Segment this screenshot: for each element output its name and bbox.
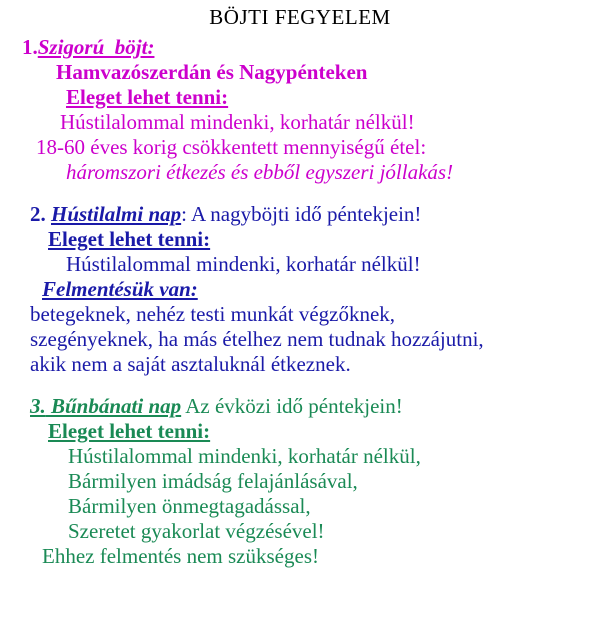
section-3-line-1: Eleget lehet tenni: <box>0 419 600 444</box>
section-1-line-1: Hamvazószerdán és Nagypénteken <box>0 60 600 85</box>
section-2-number: 2. <box>30 202 46 226</box>
section-strict-fast: 1.Szigorú böjt: Hamvazószerdán és Nagypé… <box>0 34 600 185</box>
section-2-line-4: betegeknek, nehéz testi munkát végzőknek… <box>0 302 600 327</box>
section-3-heading-tail: Az évközi idő péntekjein! <box>181 394 403 418</box>
section-1-heading: Szigorú böjt: <box>38 35 155 59</box>
section-3-line-4: Bármilyen önmegtagadással, <box>0 494 600 519</box>
document-page: BÖJTI FEGYELEM 1.Szigorú böjt: Hamvazósz… <box>0 4 600 628</box>
section-2-heading-row: 2. Hústilalmi nap: A nagyböjti idő pénte… <box>0 201 600 227</box>
section-3-line-2: Hústilalommal mindenki, korhatár nélkül, <box>0 444 600 469</box>
section-2-line-6: akik nem a saját asztaluknál étkeznek. <box>0 352 600 377</box>
section-2-line-2: Hústilalommal mindenki, korhatár nélkül! <box>0 252 600 277</box>
section-1-number: 1. <box>22 35 38 59</box>
spacer-1 <box>0 185 600 201</box>
section-1-line-5: háromszori étkezés és ebből egyszeri jól… <box>0 160 600 185</box>
page-title: BÖJTI FEGYELEM <box>0 4 600 30</box>
section-meat-abstinence-day: 2. Hústilalmi nap: A nagyböjti idő pénte… <box>0 201 600 377</box>
section-1-line-3: Hústilalommal mindenki, korhatár nélkül! <box>0 110 600 135</box>
section-3-number: 3. <box>30 394 46 418</box>
section-1-line-4: 18-60 éves korig csökkentett mennyiségű … <box>0 135 600 160</box>
section-2-line-1: Eleget lehet tenni: <box>0 227 600 252</box>
section-2-heading-tail: : A nagyböjti idő péntekjein! <box>181 202 421 226</box>
section-penitential-day: 3. Bűnbánati nap Az évközi idő péntekjei… <box>0 393 600 569</box>
section-2-line-3: Felmentésük van: <box>0 277 600 302</box>
section-3-line-3: Bármilyen imádság felajánlásával, <box>0 469 600 494</box>
section-3-heading: Bűnbánati nap <box>51 394 181 418</box>
section-1-line-2: Eleget lehet tenni: <box>0 85 600 110</box>
section-2-line-5: szegényeknek, ha más ételhez nem tudnak … <box>0 327 600 352</box>
section-1-heading-row: 1.Szigorú böjt: <box>0 34 600 60</box>
section-2-heading: Hústilalmi nap <box>51 202 181 226</box>
section-3-line-6: Ehhez felmentés nem szükséges! <box>0 544 600 569</box>
spacer-2 <box>0 377 600 393</box>
section-3-heading-row: 3. Bűnbánati nap Az évközi idő péntekjei… <box>0 393 600 419</box>
section-3-line-5: Szeretet gyakorlat végzésével! <box>0 519 600 544</box>
